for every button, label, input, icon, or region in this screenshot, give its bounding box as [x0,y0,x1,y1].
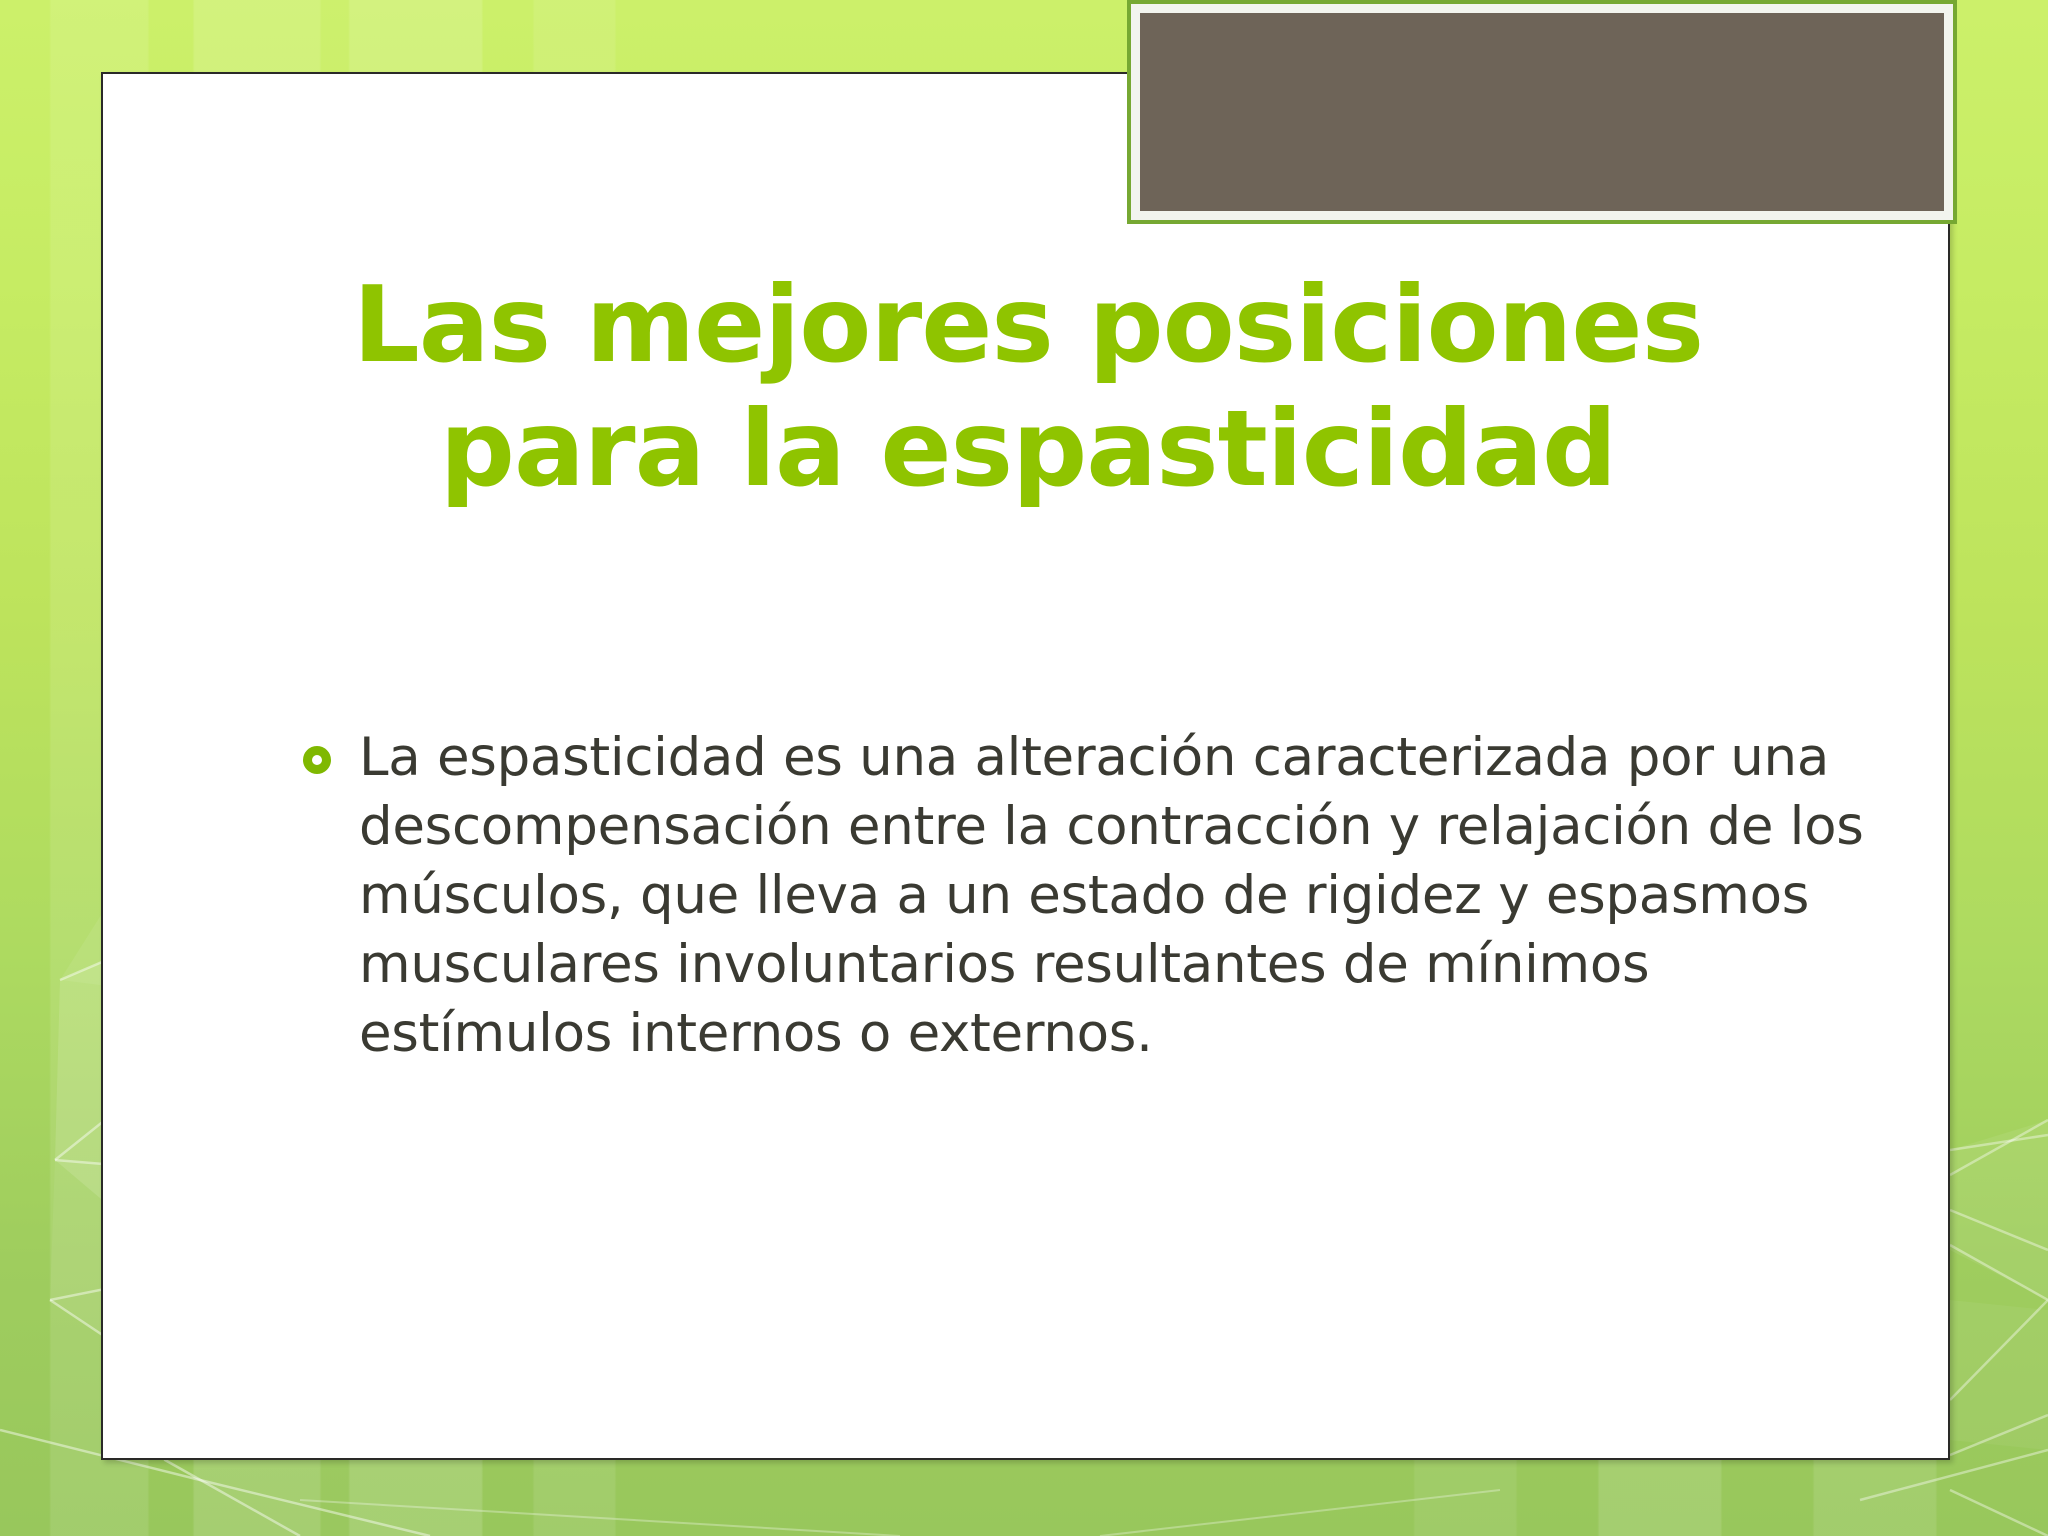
ring-bullet-icon [303,746,331,774]
bullet-item-text: La espasticidad es una alteración caract… [359,724,1903,1068]
slide-title-line-1: Las mejores posiciones [273,264,1783,388]
slide-body: La espasticidad es una alteración caract… [303,724,1903,1068]
brown-accent-bar-fill [1140,13,1944,211]
brown-accent-bar [1127,0,1957,224]
presentation-slide: Las mejores posiciones para la espastici… [0,0,2048,1536]
bullet-list-item: La espasticidad es una alteración caract… [303,724,1903,1068]
slide-title-line-2: para la espasticidad [273,388,1783,512]
white-content-panel: Las mejores posiciones para la espastici… [101,72,1950,1460]
slide-title: Las mejores posiciones para la espastici… [273,264,1783,512]
